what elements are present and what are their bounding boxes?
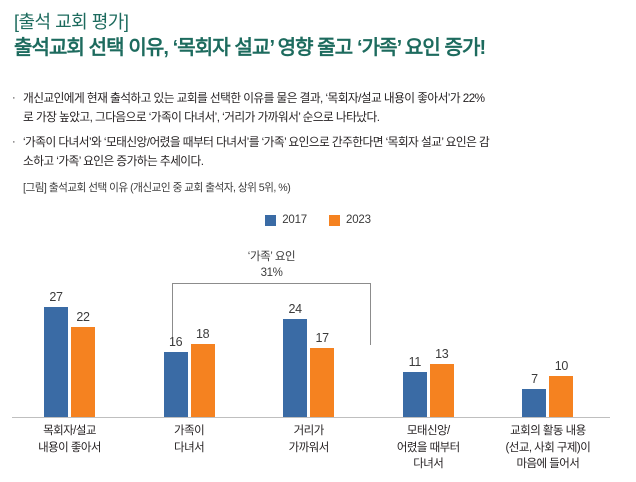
category-label-line: 어렸을 때부터	[366, 440, 490, 457]
bar-value-label: 22	[63, 310, 103, 324]
bullet-item: · ‘가족이 다녀서’와 ‘모태신앙/어렸을 때부터 다녀서’를 ‘가족’ 요인…	[10, 133, 628, 171]
bar-2023-4[interactable]	[430, 364, 454, 417]
bar-2017-5[interactable]	[522, 389, 546, 417]
category-label-4: 모태신앙/어렸을 때부터다녀서	[366, 423, 490, 473]
category-label-line: (선교, 사회 구제)이	[486, 440, 610, 457]
bar-chart-plot: 2722161824171113710	[12, 246, 610, 417]
bar-value-label: 24	[275, 302, 315, 316]
bar-group: 1113	[393, 246, 464, 417]
legend-swatch-icon	[265, 215, 276, 226]
category-label-line: 가족이	[127, 423, 251, 440]
bar-value-label: 18	[183, 327, 223, 341]
bullet-line: 로 가장 높았고, 그다음으로 ‘가족이 다녀서’, ‘거리가 가까워서’ 순으…	[23, 108, 628, 127]
category-label-line: 내용이 좋아서	[8, 440, 132, 457]
page-header: [출석 교회 평가] 출석교회 선택 이유, ‘목회자 설교’ 영향 줄고 ‘가…	[14, 10, 626, 61]
category-label-5: 교회의 활동 내용(선교, 사회 구제)이마음에 들어서	[486, 423, 610, 473]
category-label-2: 가족이다녀서	[127, 423, 251, 456]
bar-value-label: 13	[422, 347, 462, 361]
bar-group: 1618	[154, 246, 225, 417]
bar-2017-4[interactable]	[403, 372, 427, 417]
summary-bullets: · 개신교인에게 현재 출석하고 있는 교회를 선택한 이유를 물은 결과, ‘…	[10, 89, 628, 177]
bar-group: 710	[512, 246, 583, 417]
legend-label: 2017	[282, 214, 307, 226]
category-label-line: 교회의 활동 내용	[486, 423, 610, 440]
legend-item-2023: 2023	[329, 214, 371, 226]
bullet-line: 소하고 ‘가족’ 요인은 증가하는 추세이다.	[23, 152, 628, 171]
category-axis-labels: 목회자/설교내용이 좋아서가족이다녀서거리가가까워서모태신앙/어렸을 때부터다녀…	[12, 423, 610, 479]
figure-caption: [그림] 출석교회 선택 이유 (개신교인 중 교회 출석자, 상위 5위, %…	[23, 181, 290, 196]
category-label-line: 가까워서	[247, 440, 371, 457]
bullet-marker: ·	[12, 133, 15, 152]
category-label-3: 거리가가까워서	[247, 423, 371, 456]
bar-value-label: 7	[514, 372, 554, 386]
bar-group: 2417	[273, 246, 344, 417]
bullet-line: 개신교인에게 현재 출석하고 있는 교회를 선택한 이유를 물은 결과, ‘목회…	[23, 89, 628, 108]
bar-2017-2[interactable]	[164, 352, 188, 417]
bar-2023-2[interactable]	[191, 344, 215, 417]
legend-swatch-icon	[329, 215, 340, 226]
legend-item-2017: 2017	[265, 214, 307, 226]
category-label-line: 모태신앙/	[366, 423, 490, 440]
bullet-item: · 개신교인에게 현재 출석하고 있는 교회를 선택한 이유를 물은 결과, ‘…	[10, 89, 628, 127]
category-label-line: 거리가	[247, 423, 371, 440]
bullet-line: ‘가족이 다녀서’와 ‘모태신앙/어렸을 때부터 다녀서’를 ‘가족’ 요인으로…	[23, 133, 628, 152]
bar-value-label: 27	[36, 290, 76, 304]
category-label-1: 목회자/설교내용이 좋아서	[8, 423, 132, 456]
bar-group: 2722	[34, 246, 105, 417]
category-label-line: 다녀서	[366, 456, 490, 473]
legend-label: 2023	[346, 214, 371, 226]
chart-baseline	[12, 417, 610, 418]
bar-value-label: 17	[302, 331, 342, 345]
page-title: 출석교회 선택 이유, ‘목회자 설교’ 영향 줄고 ‘가족’ 요인 증가!	[14, 35, 626, 61]
bar-2023-5[interactable]	[549, 376, 573, 417]
category-label-line: 목회자/설교	[8, 423, 132, 440]
bullet-marker: ·	[12, 89, 15, 108]
bar-2023-1[interactable]	[71, 327, 95, 417]
chart-legend: 2017 2023	[0, 214, 636, 226]
page-kicker: [출석 교회 평가]	[14, 10, 626, 34]
bar-value-label: 10	[541, 359, 581, 373]
bar-2023-3[interactable]	[310, 348, 334, 417]
category-label-line: 다녀서	[127, 440, 251, 457]
category-label-line: 마음에 들어서	[486, 456, 610, 473]
